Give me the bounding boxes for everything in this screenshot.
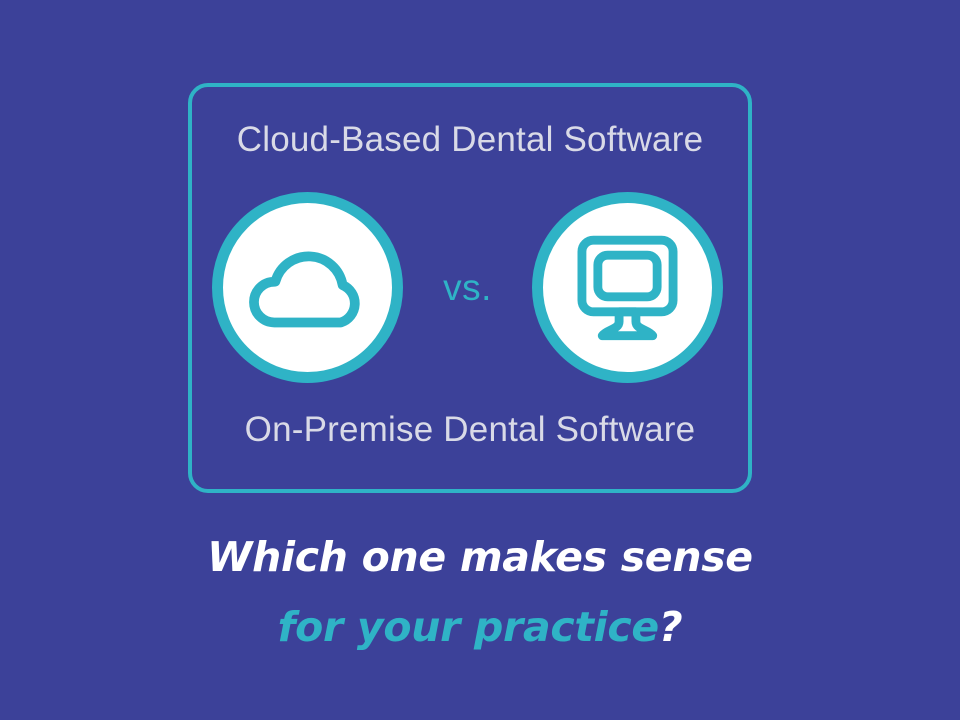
onpremise-software-title: On-Premise Dental Software <box>192 410 748 450</box>
headline-line-2: for your practice? <box>0 598 960 656</box>
monitor-icon-badge <box>532 192 723 383</box>
cloud-icon <box>223 203 392 372</box>
comparison-card: Cloud-Based Dental Software vs. On-Pre <box>188 83 752 493</box>
versus-label: vs. <box>403 192 532 383</box>
cloud-icon-badge <box>212 192 403 383</box>
headline-question: Which one makes sense for your practice? <box>0 528 960 656</box>
headline-question-mark: ? <box>659 603 682 651</box>
icon-comparison-row: vs. <box>192 192 748 387</box>
desktop-monitor-icon <box>543 203 712 372</box>
headline-line-1: Which one makes sense <box>0 528 960 586</box>
cloud-software-title: Cloud-Based Dental Software <box>192 120 748 160</box>
headline-accent-text: for your practice <box>278 603 659 651</box>
slide-canvas: Cloud-Based Dental Software vs. On-Pre <box>0 0 960 720</box>
